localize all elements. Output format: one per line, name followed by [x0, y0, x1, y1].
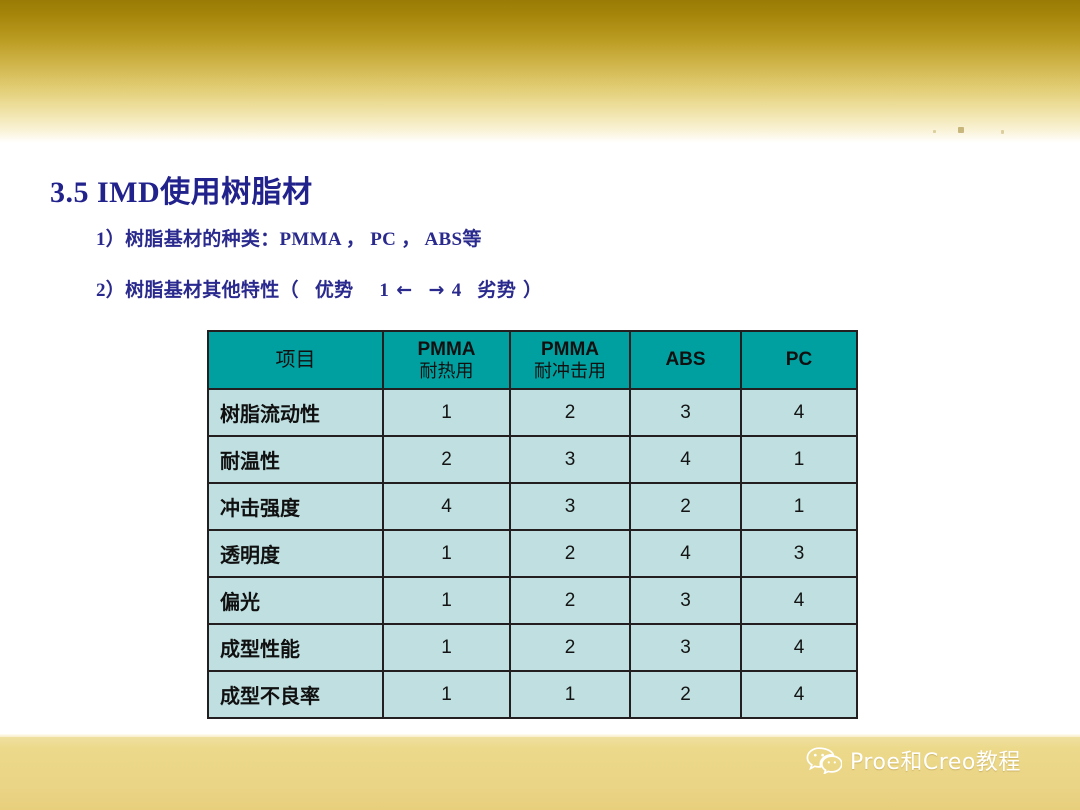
row-label: 成型性能 — [208, 624, 383, 671]
cell-value: 2 — [510, 624, 630, 671]
column-header-item-main: 项目 — [276, 349, 316, 371]
table-row: 偏光 1 2 3 4 — [208, 577, 857, 624]
slide-canvas: 3.5 IMD使用树脂材 1）树脂基材的种类：PMMA ， PC ， ABS等 … — [0, 0, 1080, 810]
cell-value: 3 — [510, 436, 630, 483]
table-body: 树脂流动性 1 2 3 4 耐温性 2 3 4 1 冲击强度 4 3 — [208, 389, 857, 718]
table-row: 树脂流动性 1 2 3 4 — [208, 389, 857, 436]
table-row: 成型不良率 1 1 2 4 — [208, 671, 857, 718]
bullet-2-close: ） — [523, 280, 542, 301]
row-label: 透明度 — [208, 530, 383, 577]
arrow-left-icon: ← — [396, 279, 412, 301]
cell-value: 4 — [741, 624, 857, 671]
cell-value: 4 — [630, 530, 741, 577]
cell-value: 2 — [510, 530, 630, 577]
cell-value: 3 — [510, 483, 630, 530]
bullet-2-text: 树脂基材其他特性（ — [125, 280, 299, 301]
table-row: 冲击强度 4 3 2 1 — [208, 483, 857, 530]
bullet-2-worst-rank: 4 — [452, 280, 462, 301]
bullet-item-1: 1）树脂基材的种类：PMMA ， PC ， ABS等 — [96, 224, 482, 251]
cell-value: 3 — [630, 577, 741, 624]
cell-value: 3 — [630, 389, 741, 436]
row-label: 成型不良率 — [208, 671, 383, 718]
cell-value: 1 — [510, 671, 630, 718]
bullet-item-2: 2）树脂基材其他特性（优势1←→4劣势） — [96, 275, 542, 302]
column-header-pmma-impact-main: PMMA — [541, 339, 599, 360]
bullet-2-worst-label: 劣势 — [478, 280, 517, 301]
cell-value: 4 — [383, 483, 510, 530]
row-label: 偏光 — [208, 577, 383, 624]
arrow-right-icon: → — [428, 279, 444, 301]
cell-value: 3 — [741, 530, 857, 577]
column-header-pc-main: PC — [786, 349, 812, 370]
column-header-abs: ABS — [630, 331, 741, 389]
cell-value: 2 — [383, 436, 510, 483]
top-gradient-band — [0, 0, 1080, 143]
cell-value: 1 — [741, 436, 857, 483]
row-label: 耐温性 — [208, 436, 383, 483]
bullet-1-index: 1） — [96, 229, 125, 250]
decorative-speck — [1001, 130, 1004, 134]
column-header-pmma-impact: PMMA 耐冲击用 — [510, 331, 630, 389]
bullet-1-text: 树脂基材的种类： — [125, 229, 279, 250]
column-header-pmma-impact-sub: 耐冲击用 — [511, 361, 629, 381]
column-header-item: 项目 — [208, 331, 383, 389]
column-header-pmma-heat-main: PMMA — [417, 339, 475, 360]
cell-value: 4 — [741, 577, 857, 624]
column-header-pc: PC — [741, 331, 857, 389]
cell-value: 4 — [741, 389, 857, 436]
column-header-abs-main: ABS — [665, 349, 705, 370]
resin-properties-table: 项目 PMMA 耐热用 PMMA 耐冲击用 ABS PC — [207, 330, 858, 719]
cell-value: 1 — [383, 530, 510, 577]
watermark: Proe和Creo教程 — [806, 744, 1021, 776]
table-row: 透明度 1 2 4 3 — [208, 530, 857, 577]
cell-value: 2 — [630, 483, 741, 530]
row-label: 冲击强度 — [208, 483, 383, 530]
cell-value: 4 — [630, 436, 741, 483]
cell-value: 1 — [383, 671, 510, 718]
decorative-speck — [958, 127, 964, 133]
column-header-pmma-heat-sub: 耐热用 — [384, 361, 509, 381]
wechat-icon — [806, 746, 842, 774]
decorative-speck — [933, 130, 936, 133]
properties-table-wrapper: 项目 PMMA 耐热用 PMMA 耐冲击用 ABS PC — [207, 330, 856, 719]
table-header-row: 项目 PMMA 耐热用 PMMA 耐冲击用 ABS PC — [208, 331, 857, 389]
table-header: 项目 PMMA 耐热用 PMMA 耐冲击用 ABS PC — [208, 331, 857, 389]
bullet-2-index: 2） — [96, 280, 125, 301]
watermark-label: Proe和Creo教程 — [850, 744, 1021, 776]
cell-value: 2 — [510, 577, 630, 624]
slide-title: 3.5 IMD使用树脂材 — [50, 167, 313, 211]
cell-value: 1 — [383, 389, 510, 436]
row-label: 树脂流动性 — [208, 389, 383, 436]
cell-value: 2 — [510, 389, 630, 436]
cell-value: 1 — [741, 483, 857, 530]
cell-value: 1 — [383, 577, 510, 624]
cell-value: 2 — [630, 671, 741, 718]
bullet-2-best-label: 优势 — [315, 280, 354, 301]
cell-value: 4 — [741, 671, 857, 718]
bullet-1-materials: PMMA ， PC ， ABS等 — [280, 229, 482, 250]
column-header-pmma-heat: PMMA 耐热用 — [383, 331, 510, 389]
table-row: 耐温性 2 3 4 1 — [208, 436, 857, 483]
bullet-2-best-rank: 1 — [379, 280, 389, 301]
cell-value: 1 — [383, 624, 510, 671]
cell-value: 3 — [630, 624, 741, 671]
table-row: 成型性能 1 2 3 4 — [208, 624, 857, 671]
